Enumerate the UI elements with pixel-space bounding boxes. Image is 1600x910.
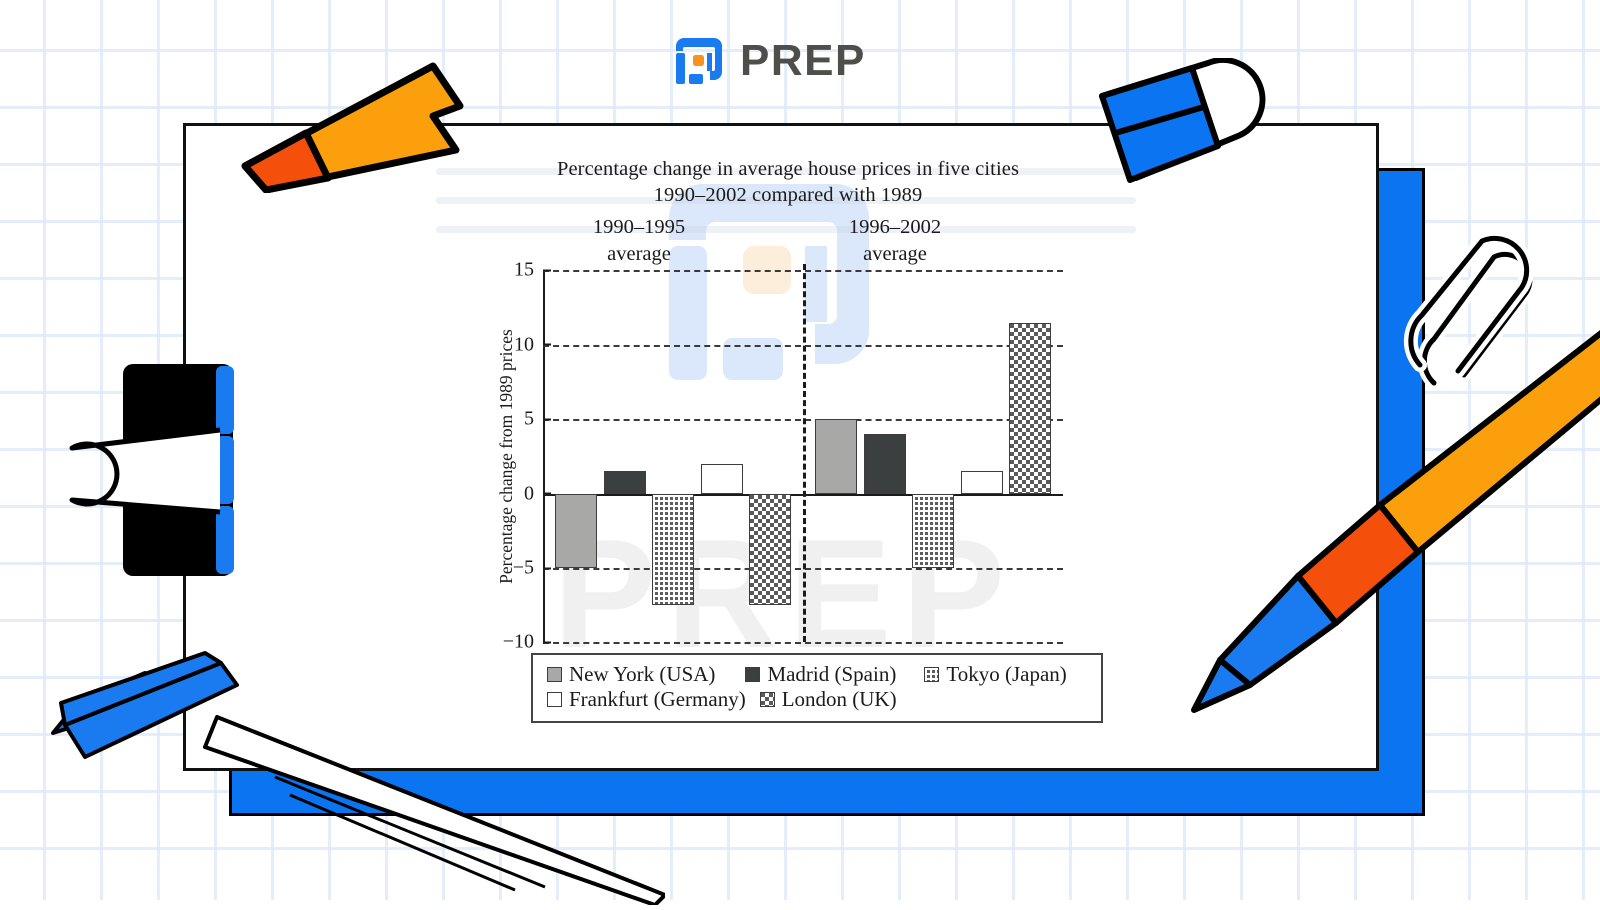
bar-md-group2 xyxy=(864,434,906,494)
group-header-1996-2002: 1996–2002 average xyxy=(785,214,1005,266)
legend-item-ln[interactable]: London (UK) xyxy=(760,687,897,712)
y-axis-tick-label: −10 xyxy=(503,631,543,654)
bar-fr-group1 xyxy=(701,464,743,494)
legend-label: New York (USA) xyxy=(569,662,715,687)
legend-row: New York (USA)Madrid (Spain)Tokyo (Japan… xyxy=(547,662,1087,687)
legend-label: Tokyo (Japan) xyxy=(946,662,1066,687)
bar-md-group1 xyxy=(604,471,646,493)
group-header-1996-2002-average: average xyxy=(785,241,1005,267)
gridline xyxy=(543,642,1063,644)
bar-fr-group2 xyxy=(961,471,1003,493)
legend-item-md[interactable]: Madrid (Spain) xyxy=(745,662,896,687)
legend-swatch-ny-icon xyxy=(547,667,562,682)
group-header-1990-1995-years: 1990–1995 xyxy=(529,214,749,240)
bar-ln-group1 xyxy=(749,494,791,606)
chart-title-line2: 1990–2002 compared with 1989 xyxy=(483,182,1093,208)
bar-tk-group2 xyxy=(912,494,954,568)
y-axis-tick-label: 0 xyxy=(524,482,543,505)
legend-swatch-ln-icon xyxy=(760,692,775,707)
y-axis-label: Percentage change from 1989 prices xyxy=(495,270,517,642)
legend-item-fr[interactable]: Frankfurt (Germany) xyxy=(547,687,746,712)
y-axis-tick-label: 15 xyxy=(514,259,543,282)
chart-legend: New York (USA)Madrid (Spain)Tokyo (Japan… xyxy=(531,653,1103,723)
plot-area: Percentage change from 1989 prices 15105… xyxy=(543,270,1063,642)
legend-item-tk[interactable]: Tokyo (Japan) xyxy=(924,662,1066,687)
y-axis-tick-label: 5 xyxy=(524,408,543,431)
chart-title: Percentage change in average house price… xyxy=(483,156,1093,208)
y-axis-tick-label: 10 xyxy=(514,333,543,356)
group-header-1996-2002-years: 1996–2002 xyxy=(785,214,1005,240)
group-header-1990-1995: 1990–1995 average xyxy=(529,214,749,266)
legend-swatch-tk-icon xyxy=(924,667,939,682)
legend-label: Madrid (Spain) xyxy=(767,662,896,687)
legend-item-ny[interactable]: New York (USA) xyxy=(547,662,715,687)
legend-swatch-md-icon xyxy=(745,667,760,682)
group-headers: 1990–1995 average 1996–2002 average xyxy=(483,214,1093,270)
y-axis-line xyxy=(543,270,545,642)
chart-title-line1: Percentage change in average house price… xyxy=(483,156,1093,182)
legend-swatch-fr-icon xyxy=(547,692,562,707)
prep-logo-icon xyxy=(672,34,726,88)
group-header-1990-1995-average: average xyxy=(529,241,749,267)
prep-logo: PREP xyxy=(672,30,902,92)
bar-tk-group1 xyxy=(652,494,694,606)
bar-ny-group2 xyxy=(815,419,857,493)
legend-label: Frankfurt (Germany) xyxy=(569,687,746,712)
legend-label: London (UK) xyxy=(782,687,897,712)
paper-sheet: PREP Percentage change in average house … xyxy=(183,123,1379,771)
prep-logo-text: PREP xyxy=(740,39,866,83)
y-axis-tick-label: −5 xyxy=(513,557,543,580)
legend-row: Frankfurt (Germany)London (UK) xyxy=(547,687,1087,712)
group-divider-line xyxy=(803,264,806,642)
bar-ny-group1 xyxy=(555,494,597,568)
bar-ln-group2 xyxy=(1009,323,1051,494)
